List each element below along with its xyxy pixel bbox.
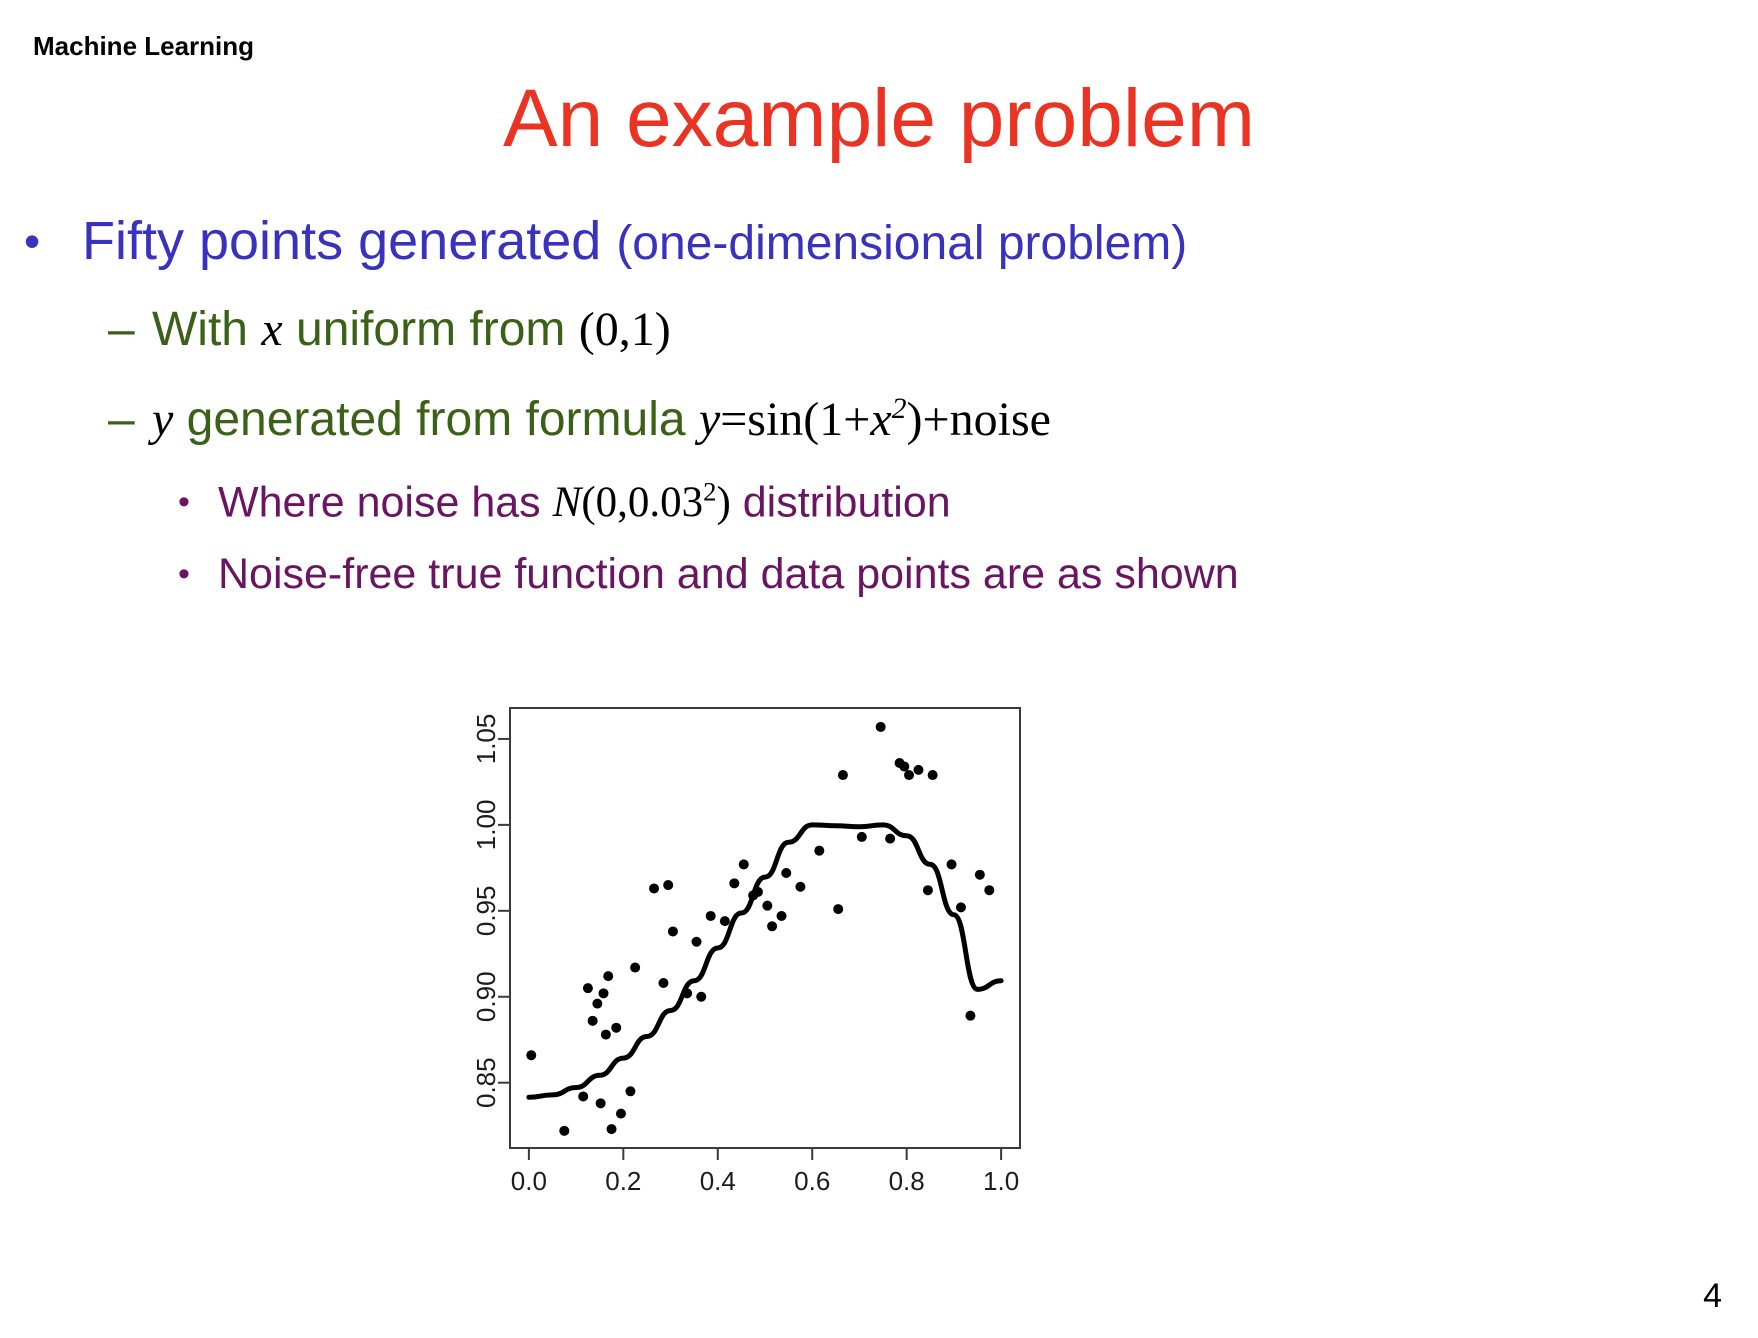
data-point <box>965 1011 975 1021</box>
formula-eq-sin: =sin(1+ <box>720 393 870 446</box>
data-point <box>583 983 593 993</box>
data-point <box>739 859 749 869</box>
bullet-level3-2-text: Noise-free true function and data points… <box>218 550 1239 598</box>
data-point <box>616 1109 626 1119</box>
data-point <box>777 911 787 921</box>
data-point <box>526 1050 536 1060</box>
bullet-level3-item1: •Where noise has N(0,0.032) distribution <box>178 478 951 525</box>
y-tick-label: 0.90 <box>471 971 501 1022</box>
bullet-marker-level2-1: – <box>108 305 152 355</box>
data-point <box>947 859 957 869</box>
data-point <box>838 770 848 780</box>
slide-title: An example problem <box>0 78 1758 160</box>
y-tick-label: 1.05 <box>471 714 501 765</box>
formula-lhs-y: y <box>699 393 720 446</box>
data-point <box>857 832 867 842</box>
y-tick-label: 0.95 <box>471 886 501 937</box>
data-point <box>781 868 791 878</box>
bullet-level2-item1: –With x uniform from (0,1) <box>108 305 671 355</box>
math-var-y: y <box>152 393 173 446</box>
math-dist-N: N <box>553 479 582 526</box>
data-point <box>876 722 886 732</box>
math-normal-dist: N(0,0.032) <box>553 479 731 526</box>
bullet-level2-1-prefix: With <box>152 303 261 356</box>
bullet-level1: •Fifty points generated (one-dimensional… <box>24 213 1744 270</box>
math-dist-exponent: 2 <box>703 477 716 507</box>
slide: Machine Learning An example problem •Fif… <box>0 0 1758 1338</box>
data-point <box>885 834 895 844</box>
math-dist-close: ) <box>716 479 730 526</box>
data-point <box>630 963 640 973</box>
bullet-marker-level3-2: • <box>178 557 218 593</box>
bullet-level1-main: Fifty points generated <box>82 211 616 271</box>
data-point <box>578 1091 588 1101</box>
data-point <box>928 770 938 780</box>
x-tick-label: 1.0 <box>983 1166 1019 1196</box>
bullet-level3-1-suffix: distribution <box>731 478 951 526</box>
data-point <box>649 883 659 893</box>
chart-svg: 0.850.900.951.001.05 0.00.20.40.60.81.0 <box>420 700 1040 1240</box>
data-point <box>729 878 739 888</box>
bullet-marker-level1: • <box>24 217 82 265</box>
data-point <box>559 1126 569 1136</box>
data-point <box>956 902 966 912</box>
data-point <box>814 846 824 856</box>
formula-exponent-2: 2 <box>892 392 907 425</box>
formula-y-sin: y=sin(1+x2)+noise <box>699 393 1051 446</box>
data-point <box>753 887 763 897</box>
x-tick-label: 0.6 <box>794 1166 830 1196</box>
data-point <box>904 770 914 780</box>
y-tick-label: 1.00 <box>471 800 501 851</box>
data-point <box>984 885 994 895</box>
data-point <box>668 926 678 936</box>
data-point <box>833 904 843 914</box>
bullet-marker-level2-2: – <box>108 395 152 445</box>
data-point <box>767 921 777 931</box>
bullet-level3-item2: •Noise-free true function and data point… <box>178 552 1239 597</box>
y-tick-label: 0.85 <box>471 1057 501 1108</box>
x-tick-label: 0.8 <box>889 1166 925 1196</box>
data-point <box>607 1124 617 1134</box>
data-point <box>663 880 673 890</box>
bullet-level3-1-prefix: Where noise has <box>218 478 553 526</box>
formula-tail-noise: )+noise <box>907 393 1051 446</box>
bullet-level1-paren: (one-dimensional problem) <box>616 217 1187 270</box>
data-point <box>913 765 923 775</box>
data-point <box>720 916 730 926</box>
scatter-plot: 0.850.900.951.001.05 0.00.20.40.60.81.0 <box>420 700 1060 1260</box>
data-point <box>658 978 668 988</box>
math-interval-01: (0,1) <box>579 303 671 356</box>
data-point <box>592 999 602 1009</box>
math-var-x: x <box>261 303 282 356</box>
data-point <box>601 1030 611 1040</box>
slide-header: Machine Learning <box>33 31 254 62</box>
data-point <box>625 1086 635 1096</box>
data-point <box>923 885 933 895</box>
data-point <box>599 988 609 998</box>
y-axis-ticks: 0.850.900.951.001.05 <box>471 714 510 1108</box>
data-point <box>692 937 702 947</box>
formula-var-x: x <box>870 393 891 446</box>
data-point <box>588 1016 598 1026</box>
page-number: 4 <box>1703 1277 1722 1316</box>
bullet-level2-item2: –y generated from formula y=sin(1+x2)+no… <box>108 393 1051 445</box>
data-point <box>596 1098 606 1108</box>
x-tick-label: 0.4 <box>700 1166 736 1196</box>
x-tick-label: 0.2 <box>605 1166 641 1196</box>
data-point <box>706 911 716 921</box>
x-tick-label: 0.0 <box>511 1166 547 1196</box>
data-point <box>696 992 706 1002</box>
bullet-marker-level3-1: • <box>178 485 218 521</box>
data-point <box>611 1023 621 1033</box>
data-point <box>975 870 985 880</box>
math-dist-args: (0,0.03 <box>581 479 703 526</box>
data-point <box>603 971 613 981</box>
bullet-level2-2-middle: generated from formula <box>173 393 699 446</box>
data-point <box>899 761 909 771</box>
data-point <box>795 882 805 892</box>
bullet-level2-1-middle: uniform from <box>283 303 579 356</box>
x-axis-ticks: 0.00.20.40.60.81.0 <box>511 1148 1019 1196</box>
data-point <box>762 901 772 911</box>
data-point <box>682 988 692 998</box>
